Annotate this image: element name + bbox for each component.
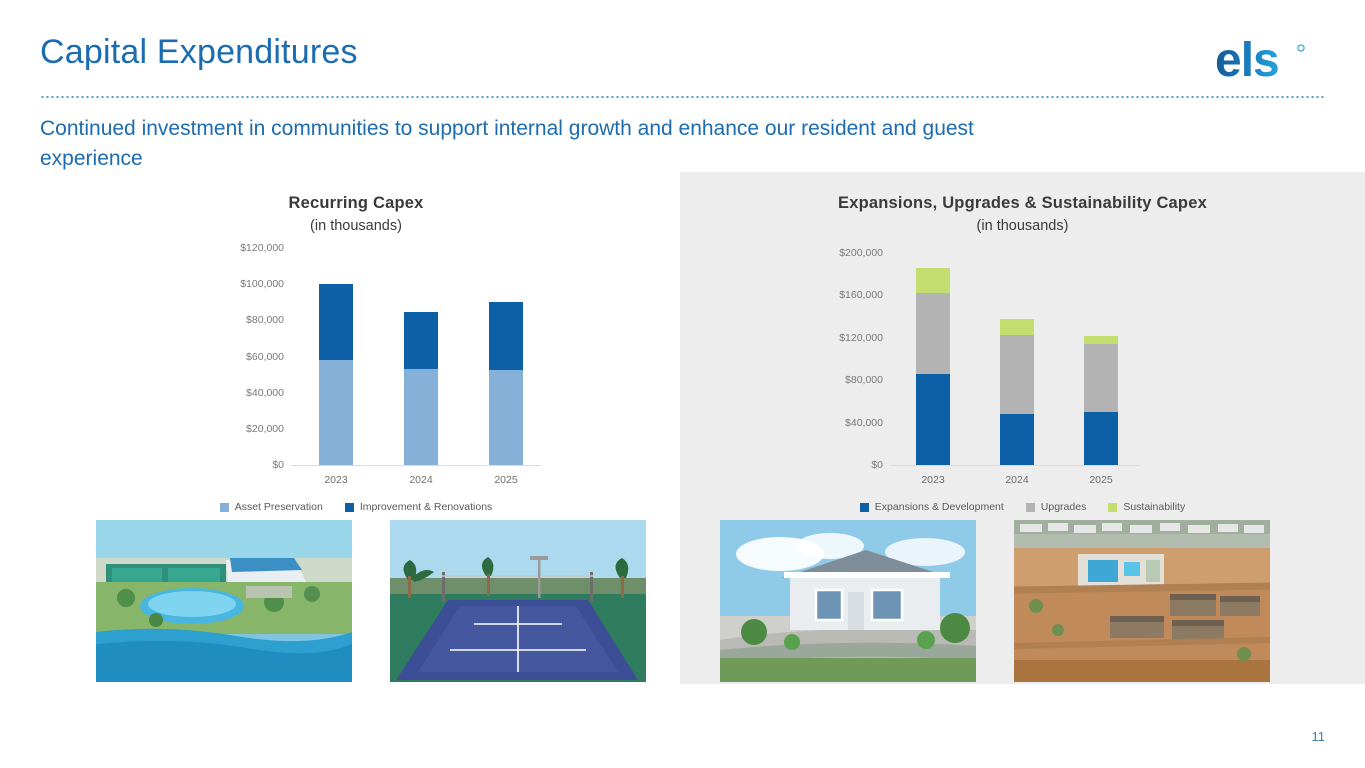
bar-segment [404,369,438,465]
bar-segment [1000,335,1034,414]
legend-item: Improvement & Renovations [345,501,492,513]
svg-text:els: els [1215,36,1279,84]
slide-subtitle: Continued investment in communities to s… [40,114,1000,175]
y-axis-tick-label: $160,000 [839,289,883,301]
legend-item: Upgrades [1026,501,1087,513]
chart-subtitle-right: (in thousands) [680,218,1365,234]
x-axis-tick-label: 2023 [921,474,944,486]
bar-segment [1084,336,1118,344]
bar-segment [1084,344,1118,412]
x-axis-tick-label: 2024 [409,474,432,486]
legend-label: Expansions & Development [875,501,1004,513]
legend-label: Upgrades [1041,501,1087,513]
x-axis-baseline [890,465,1140,466]
legend-swatch-icon [220,503,229,512]
chart-title-right: Expansions, Upgrades & Sustainability Ca… [680,194,1365,213]
bar-segment [319,284,353,360]
bar-segment [1000,319,1034,335]
y-axis-tick-label: $200,000 [839,247,883,259]
right-photo-strip [720,520,1270,682]
bar-2023 [319,284,353,465]
bar-2024 [1000,319,1034,465]
y-axis-tick-label: $60,000 [246,351,284,363]
bar-segment [1000,414,1034,465]
y-axis-tick-label: $100,000 [240,278,284,290]
page-title: Capital Expenditures [40,33,358,72]
bar-2025 [489,302,523,465]
x-axis-tick-label: 2023 [324,474,347,486]
bar-segment [916,268,950,293]
bar-2023 [916,268,950,465]
x-axis-tick-label: 2025 [494,474,517,486]
y-axis-tick-label: $20,000 [246,423,284,435]
y-axis-tick-label: $120,000 [240,242,284,254]
y-axis-tick-label: $80,000 [845,374,883,386]
x-axis-tick-label: 2024 [1005,474,1028,486]
legend-item: Sustainability [1108,501,1185,513]
left-photo-strip [96,520,646,682]
header-divider [40,96,1325,98]
photo-pickleball-tennis-court-palms [390,520,646,682]
bar-segment [489,302,523,370]
legend-swatch-icon [860,503,869,512]
y-axis-tick-label: $120,000 [839,332,883,344]
legend-swatch-icon [1108,503,1117,512]
bar-2025 [1084,336,1118,465]
x-axis-baseline [291,465,541,466]
y-axis-tick-label: $80,000 [246,314,284,326]
slide: Capital Expenditures els Continued inves… [0,0,1365,768]
y-axis-tick-label: $0 [871,459,883,471]
y-axis-tick-label: $0 [272,459,284,471]
expansions-capex-panel: Expansions, Upgrades & Sustainability Ca… [680,172,1365,684]
x-axis-tick-label: 2025 [1089,474,1112,486]
photo-aerial-resort-tennis-courts-pool [96,520,352,682]
els-logo: els [1215,36,1325,84]
expansions-capex-chart: $0$40,000$80,000$120,000$160,000$200,000… [890,253,1140,465]
legend-label: Improvement & Renovations [360,501,492,513]
legend-item: Expansions & Development [860,501,1004,513]
bar-segment [916,293,950,374]
legend-label: Sustainability [1123,501,1185,513]
bar-segment [404,312,438,369]
legend-swatch-icon [345,503,354,512]
bar-segment [319,360,353,465]
bar-segment [916,374,950,465]
y-axis-tick-label: $40,000 [246,387,284,399]
photo-manufactured-home-exterior [720,520,976,682]
bar-segment [1084,412,1118,465]
recurring-capex-chart: $0$20,000$40,000$60,000$80,000$100,000$1… [291,248,541,465]
recurring-capex-legend: Asset PreservationImprovement & Renovati… [36,501,676,513]
bar-segment [489,370,523,465]
y-axis-tick-label: $40,000 [845,417,883,429]
page-number: 11 [1312,729,1326,744]
legend-label: Asset Preservation [235,501,323,513]
expansions-capex-legend: Expansions & DevelopmentUpgradesSustaina… [680,501,1365,513]
chart-title-left: Recurring Capex [36,194,676,213]
recurring-capex-panel: Recurring Capex (in thousands) $0$20,000… [36,172,676,684]
legend-swatch-icon [1026,503,1035,512]
chart-subtitle-left: (in thousands) [36,218,676,234]
legend-item: Asset Preservation [220,501,323,513]
photo-aerial-community-development-pool [1014,520,1270,682]
bar-2024 [404,312,438,465]
